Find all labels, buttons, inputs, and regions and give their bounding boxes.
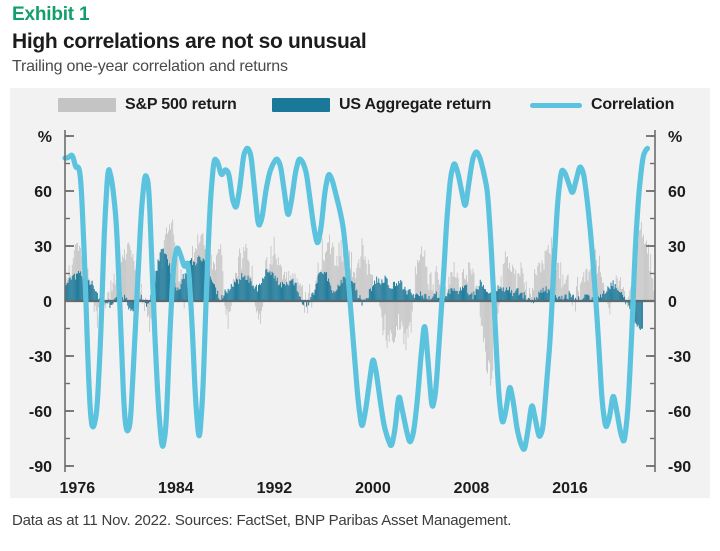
y-tick-label-left: % [38,129,52,146]
legend-label-sp500: S&P 500 return [125,96,237,114]
x-tick-label: 1984 [158,480,194,494]
x-tick-label: 1976 [60,480,96,494]
sp500-swatch-icon [58,98,116,112]
y-tick-label-right: 30 [668,239,686,256]
y-tick-label-left: -30 [29,349,52,366]
page-subtitle: Trailing one-year correlation and return… [12,58,288,76]
y-tick-label-left: 30 [34,239,52,256]
y-tick-label-right: 60 [668,184,686,201]
legend-item-usagg: US Aggregate return [272,92,491,118]
y-tick-label-right: 0 [668,294,677,311]
y-tick-label-left: -90 [29,459,52,476]
y-tick-label-left: 0 [43,294,52,311]
chart-panel: S&P 500 return US Aggregate return Corre… [10,88,710,498]
legend-item-sp500: S&P 500 return [58,92,237,118]
legend-label-usagg: US Aggregate return [339,96,491,114]
y-tick-label-right: -60 [668,404,691,421]
y-tick-label-right: -30 [668,349,691,366]
usagg-swatch-icon [272,98,330,112]
legend-label-correlation: Correlation [591,96,674,114]
x-tick-label: 2016 [552,480,588,494]
chart-legend: S&P 500 return US Aggregate return Corre… [10,92,710,120]
exhibit-label: Exhibit 1 [12,4,89,26]
x-tick-label: 1992 [257,480,293,494]
legend-item-correlation: Correlation [530,92,674,118]
y-tick-label-right: -90 [668,459,691,476]
x-tick-label: 2000 [355,480,391,494]
y-tick-label-left: 60 [34,184,52,201]
source-note: Data as at 11 Nov. 2022. Sources: FactSe… [12,512,511,529]
plot-area: %%6060303000-30-30-60-60-90-901976198419… [10,122,710,494]
page-title: High correlations are not so unusual [12,30,366,54]
y-tick-label-left: -60 [29,404,52,421]
chart-page: Exhibit 1 High correlations are not so u… [0,0,720,551]
x-tick-label: 2008 [454,480,490,494]
y-tick-label-right: % [668,129,682,146]
correlation-returns-chart: %%6060303000-30-30-60-60-90-901976198419… [10,122,710,494]
correlation-line-icon [530,103,582,108]
